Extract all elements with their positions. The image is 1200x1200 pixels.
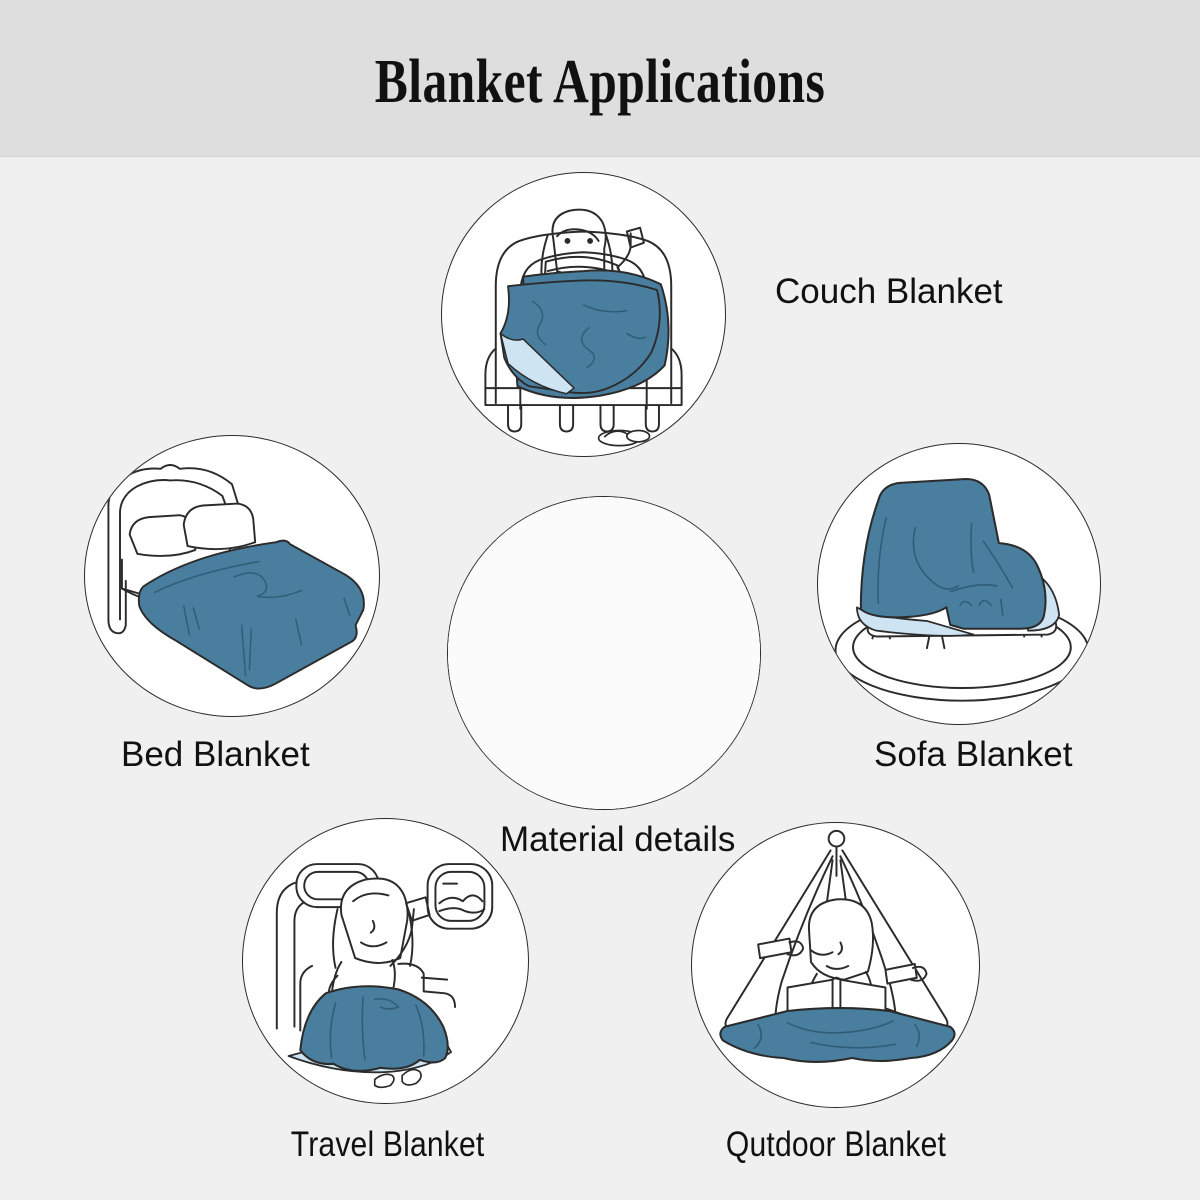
circle-bed-blanket — [84, 435, 380, 717]
fleece-fabric-swirl-photo — [448, 497, 760, 809]
sofa-blanket-illustration — [818, 444, 1100, 724]
circle-outdoor-blanket — [691, 822, 980, 1108]
label-couch-blanket: Couch Blanket — [775, 271, 1003, 313]
couch-blanket-illustration — [442, 173, 725, 456]
label-sofa-blanket: Sofa Blanket — [874, 734, 1072, 776]
circle-travel-blanket — [242, 818, 529, 1104]
outdoor-blanket-illustration — [692, 823, 979, 1107]
travel-blanket-illustration — [243, 819, 528, 1103]
circle-material-details — [447, 496, 761, 810]
label-outdoor-blanket: Qutdoor Blanket — [726, 1124, 946, 1166]
circle-couch-blanket — [441, 172, 726, 457]
bed-blanket-illustration — [85, 436, 379, 716]
infographic-page: Blanket Applications — [0, 0, 1200, 1200]
label-material-details: Material details — [500, 819, 735, 861]
circle-sofa-blanket — [817, 443, 1101, 725]
page-title: Blanket Applications — [120, 47, 1080, 117]
label-bed-blanket: Bed Blanket — [121, 734, 310, 776]
label-travel-blanket: Travel Blanket — [291, 1124, 485, 1166]
